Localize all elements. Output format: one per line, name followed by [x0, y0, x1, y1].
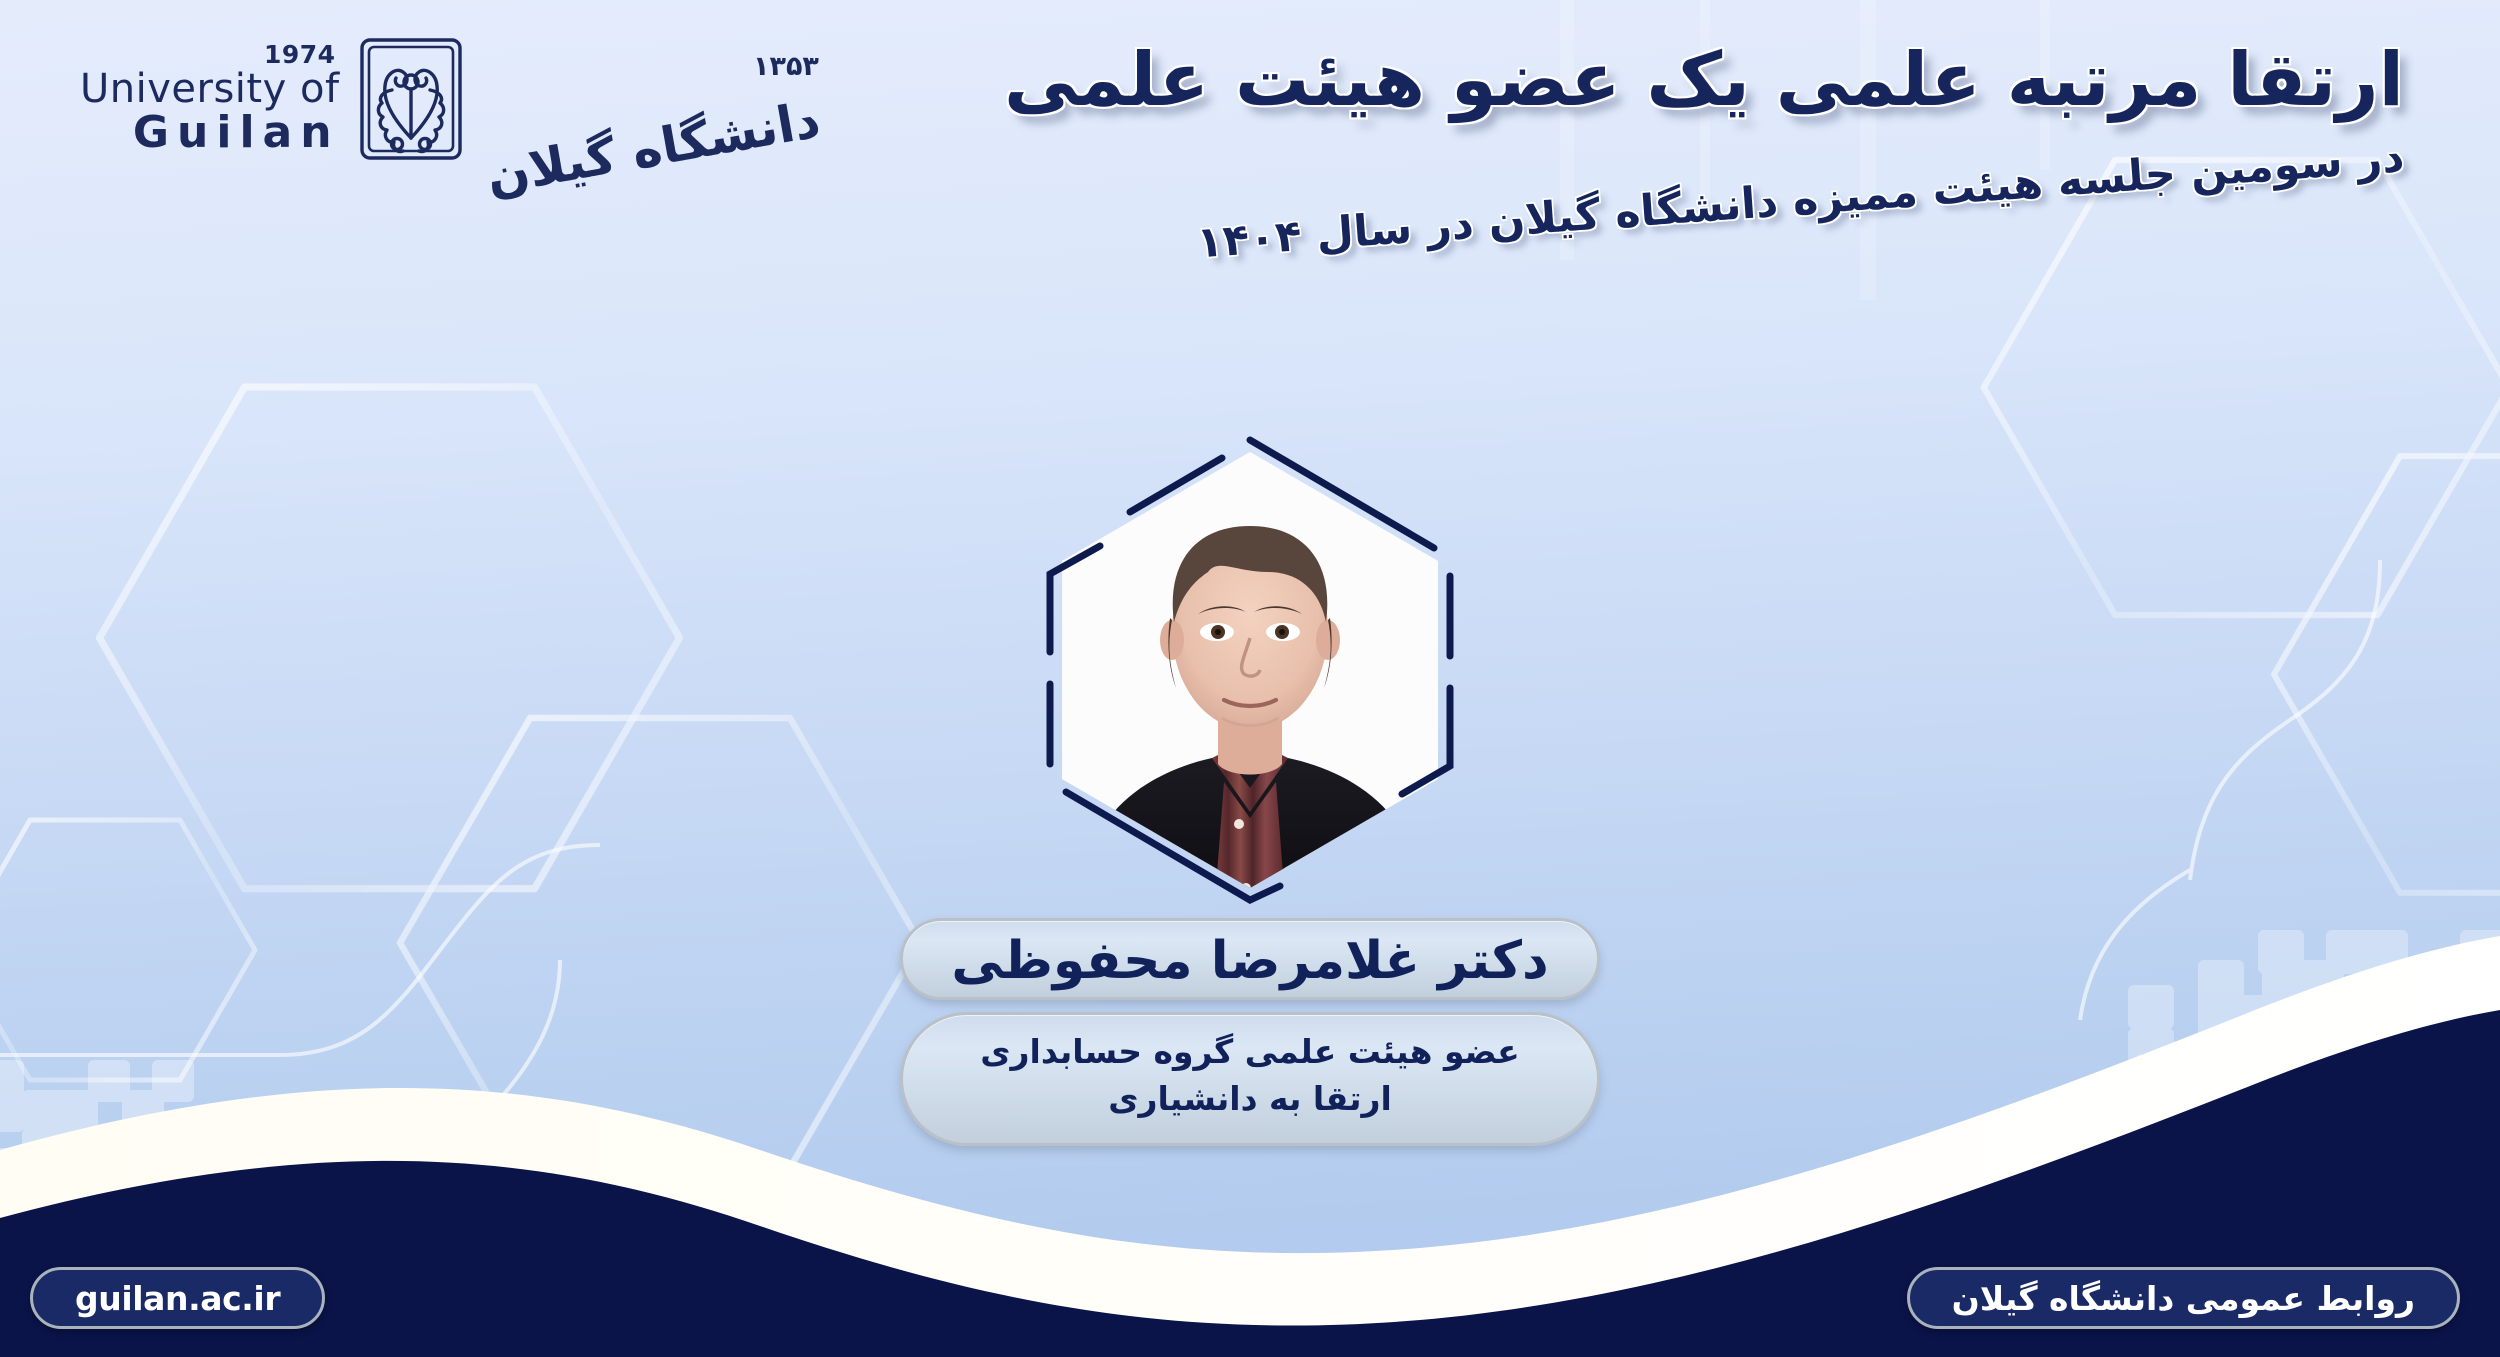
person-badges: دکتر غلامرضا محفوظی عضو هیئت علمی گروه ح…	[900, 918, 1600, 1146]
headline-subtitle: در سومین جلسه هیئت ممیزه دانشگاه گیلان د…	[1006, 131, 2406, 285]
logo-year-en: 1974	[264, 42, 336, 67]
poster-header: 1974 University of Guilan	[0, 0, 2500, 300]
guilan-university-emblem-icon	[350, 34, 472, 162]
website-chip[interactable]: guilan.ac.ir	[30, 1267, 325, 1329]
logo-year-fa: ۱۳۵۳	[753, 53, 819, 80]
person-name-badge: دکتر غلامرضا محفوظی	[900, 918, 1600, 1000]
logo-english-text: 1974 University of Guilan	[80, 42, 340, 155]
headline-title: ارتقا مرتبه علمی یک عضو هیئت علمی	[1004, 36, 2404, 125]
portrait-photo	[1062, 452, 1438, 888]
poster-canvas: 1974 University of Guilan	[0, 0, 2500, 1357]
public-relations-chip: روابط عمومی دانشگاه گیلان	[1907, 1267, 2460, 1329]
logo-university-name-fa: دانشگاه گیلان	[482, 94, 823, 202]
logo-guilan-word: Guilan	[133, 111, 340, 155]
logo-persian-text: ۱۳۵۳ دانشگاه گیلان	[482, 53, 819, 144]
person-role-line-2: ارتقا به دانشیاری	[927, 1076, 1573, 1123]
logo-university-word: University of	[80, 69, 340, 109]
portrait	[1030, 430, 1470, 910]
university-logo: 1974 University of Guilan	[80, 34, 819, 162]
person-role-badge: عضو هیئت علمی گروه حسابداری ارتقا به دان…	[900, 1012, 1600, 1146]
headline-block: ارتقا مرتبه علمی یک عضو هیئت علمی در سوم…	[1004, 36, 2404, 185]
person-role-line-1: عضو هیئت علمی گروه حسابداری	[927, 1029, 1573, 1076]
